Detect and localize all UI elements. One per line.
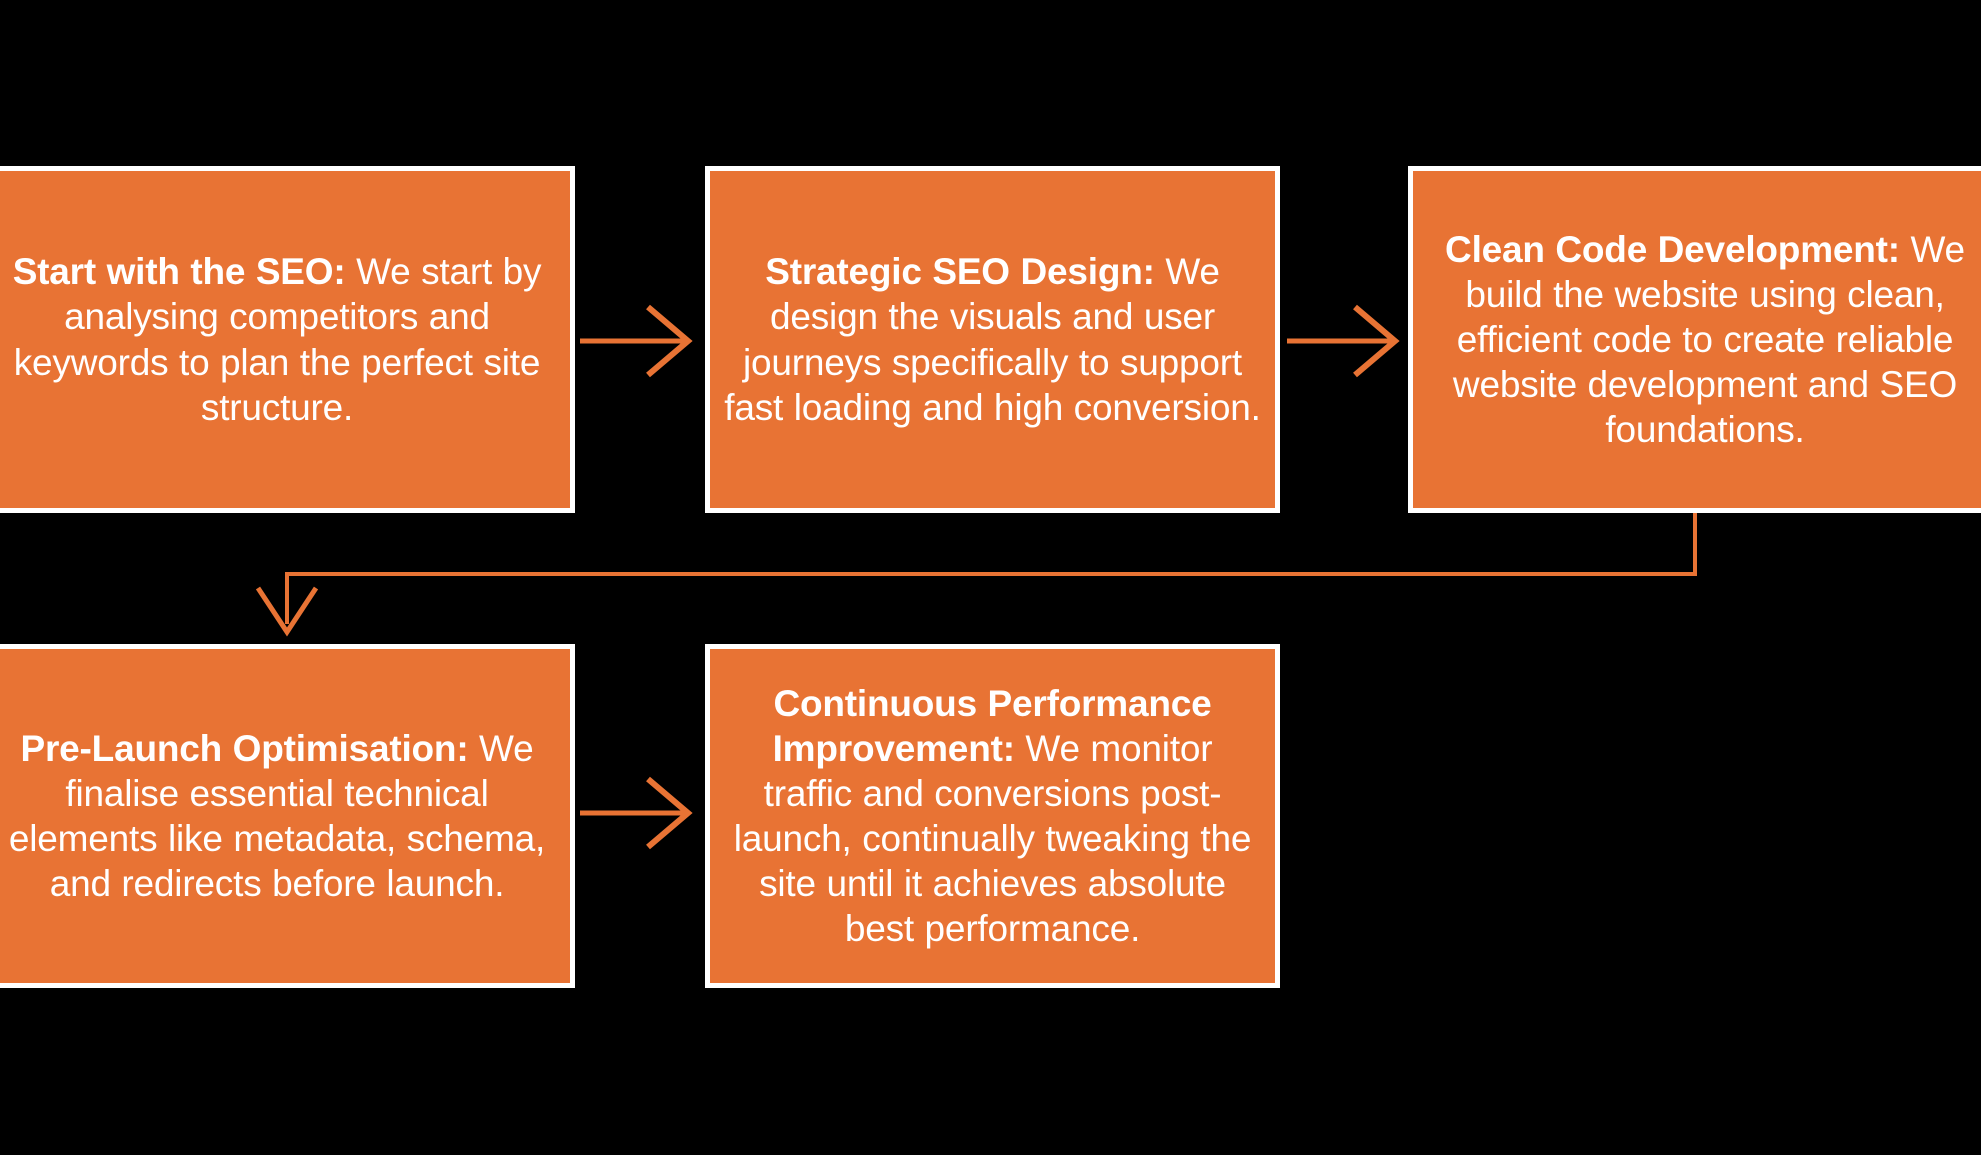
flow-step-text-2: Strategic SEO Design: We design the visu…: [724, 249, 1261, 430]
flow-step-heading-4: Pre-Launch Optimisation:: [21, 728, 469, 769]
arrow-step1-to-step2: [580, 307, 688, 375]
flow-step-text-5: Continuous Performance Improvement: We m…: [724, 681, 1261, 952]
arrow-step3-to-step4: [258, 513, 1695, 632]
flow-step-text-4: Pre-Launch Optimisation: We finalise ess…: [0, 726, 556, 907]
arrow-step4-to-step5: [580, 779, 688, 847]
flow-step-heading-1: Start with the SEO:: [13, 251, 346, 292]
flow-step-box-1[interactable]: Start with the SEO: We start by analysin…: [0, 166, 575, 513]
flow-step-text-1: Start with the SEO: We start by analysin…: [0, 249, 556, 430]
flow-step-box-3[interactable]: Clean Code Development: We build the web…: [1408, 166, 1981, 513]
flow-step-text-3: Clean Code Development: We build the web…: [1427, 227, 1981, 453]
flow-step-heading-2: Strategic SEO Design:: [765, 251, 1155, 292]
flow-step-box-2[interactable]: Strategic SEO Design: We design the visu…: [705, 166, 1280, 513]
flowchart-canvas: Start with the SEO: We start by analysin…: [0, 0, 1981, 1155]
arrow-step2-to-step3: [1287, 307, 1395, 375]
flow-step-heading-3: Clean Code Development:: [1445, 229, 1900, 270]
flow-step-box-5[interactable]: Continuous Performance Improvement: We m…: [705, 644, 1280, 988]
flow-step-box-4[interactable]: Pre-Launch Optimisation: We finalise ess…: [0, 644, 575, 988]
